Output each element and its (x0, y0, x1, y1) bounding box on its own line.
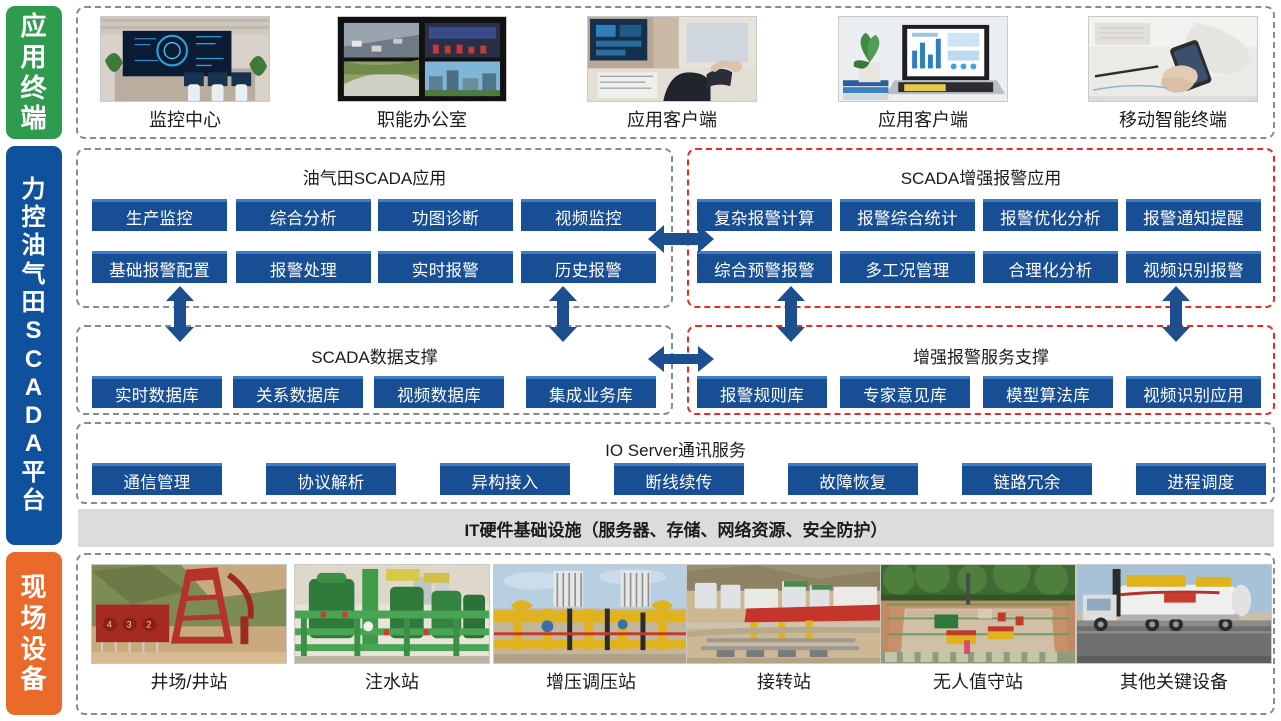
enhanced-alarm-application-title: SCADA增强报警应用 (689, 164, 1273, 189)
io-server-chip-4[interactable]: 故障恢复 (788, 463, 918, 495)
alarm-app-chip-2[interactable]: 报警优化分析 (983, 199, 1118, 231)
field-thumbnail-unmanned-station (880, 564, 1076, 664)
rail-char: 应 (20, 11, 47, 42)
field-caption: 接转站 (757, 668, 811, 694)
data-link-arrow (648, 343, 714, 375)
alarm-support-chip-0[interactable]: 报警规则库 (697, 376, 827, 408)
scada-application-title: 油气田SCADA应用 (78, 164, 671, 189)
rail-char: 台 (22, 487, 47, 515)
terminal-caption: 应用客户端 (878, 106, 968, 132)
terminal-cell-1[interactable]: 职能办公室 (337, 16, 507, 132)
rail-char: 控 (22, 204, 47, 232)
rail-char: A (25, 374, 43, 402)
rail-char: A (25, 430, 43, 458)
svg-text:4: 4 (107, 619, 112, 629)
terminal-cell-4[interactable]: 移动智能终端 (1088, 16, 1258, 132)
rail-char: 油 (22, 232, 47, 260)
rail-char: D (25, 402, 43, 430)
field-caption: 增压调压站 (546, 668, 636, 694)
io-server-title: IO Server通讯服务 (78, 436, 1273, 461)
alarm-app-chip-1[interactable]: 报警综合统计 (840, 199, 975, 231)
svg-text:2: 2 (146, 619, 151, 629)
data-support-chip-3[interactable]: 集成业务库 (526, 376, 656, 408)
rail-char: 田 (22, 289, 47, 317)
io-server-chip-1[interactable]: 协议解析 (266, 463, 396, 495)
data-support-chip-2[interactable]: 视频数据库 (374, 376, 504, 408)
alarm-support-chip-2[interactable]: 模型算法库 (983, 376, 1113, 408)
rail-char: 力 (22, 176, 47, 204)
terminal-cell-0[interactable]: 监控中心 (100, 16, 270, 132)
field-cell-3[interactable]: 接转站 (686, 564, 882, 694)
rail-char: 平 (22, 459, 47, 487)
data-support-chip-0[interactable]: 实时数据库 (92, 376, 222, 408)
scada-app-chip-7[interactable]: 历史报警 (521, 251, 656, 283)
alarm-app-chip-0[interactable]: 复杂报警计算 (697, 199, 832, 231)
alarm-app-chip-7[interactable]: 视频识别报警 (1126, 251, 1261, 283)
app-link-arrow (648, 222, 714, 256)
field-thumbnail-green-tanks (294, 564, 490, 664)
field-thumbnail-pumpjack: 432 (91, 564, 287, 664)
field-cell-4[interactable]: 无人值守站 (880, 564, 1076, 694)
scada-app-chip-0[interactable]: 生产监控 (92, 199, 227, 231)
field-cell-0[interactable]: 432 井场/井站 (91, 564, 287, 694)
rail-char: 气 (22, 261, 47, 289)
io-server-chip-0[interactable]: 通信管理 (92, 463, 222, 495)
rail-char: 端 (20, 103, 47, 134)
scada-app-chip-6[interactable]: 实时报警 (378, 251, 513, 283)
scada-app-chip-4[interactable]: 基础报警配置 (92, 251, 227, 283)
scada-app-chip-5[interactable]: 报警处理 (236, 251, 371, 283)
io-server-chip-2[interactable]: 异构接入 (440, 463, 570, 495)
rail-char: 设 (20, 634, 47, 665)
alarm-app-chip-6[interactable]: 合理化分析 (983, 251, 1118, 283)
io-server-chip-6[interactable]: 进程调度 (1136, 463, 1266, 495)
enhanced-alarm-support-title: 增强报警服务支撑 (689, 343, 1273, 368)
layer-link-arrow-right-2 (1159, 286, 1193, 342)
rail-char: 场 (20, 603, 47, 634)
layer-link-arrow-left-1 (163, 286, 197, 342)
rail-char: C (25, 346, 43, 374)
terminal-thumbnail-control-room (100, 16, 270, 102)
rail-char: 现 (20, 572, 47, 603)
rail-application-terminal: 应 用 终 端 (6, 6, 62, 139)
it-infrastructure-bar: IT硬件基础设施（服务器、存储、网络资源、安全防护） (78, 509, 1274, 547)
terminal-thumbnail-mobile-hand (1088, 16, 1258, 102)
scada-data-support-title: SCADA数据支撑 (78, 343, 671, 368)
alarm-support-chip-3[interactable]: 视频识别应用 (1126, 376, 1261, 408)
terminal-thumbnail-video-wall (337, 16, 507, 102)
terminal-caption: 移动智能终端 (1119, 106, 1227, 132)
field-cell-2[interactable]: 增压调压站 (493, 564, 689, 694)
terminal-cell-3[interactable]: 应用客户端 (838, 16, 1008, 132)
field-cell-5[interactable]: 其他关键设备 (1076, 564, 1272, 694)
rail-scada-platform: 力 控 油 气 田 S C A D A 平 台 (6, 146, 62, 545)
alarm-app-chip-5[interactable]: 多工况管理 (840, 251, 975, 283)
layer-link-arrow-right-1 (774, 286, 808, 342)
terminal-cell-2[interactable]: 应用客户端 (587, 16, 757, 132)
scada-app-chip-2[interactable]: 功图诊断 (378, 199, 513, 231)
svg-text:3: 3 (127, 619, 132, 629)
layer-link-arrow-left-2 (546, 286, 580, 342)
field-cell-1[interactable]: 注水站 (294, 564, 490, 694)
field-caption: 注水站 (365, 668, 419, 694)
rail-field-device: 现 场 设 备 (6, 552, 62, 715)
io-server-chip-3[interactable]: 断线续传 (614, 463, 744, 495)
data-support-chip-1[interactable]: 关系数据库 (233, 376, 363, 408)
field-thumbnail-tanker-truck (1076, 564, 1272, 664)
rail-char: 用 (20, 42, 47, 73)
scada-app-chip-3[interactable]: 视频监控 (521, 199, 656, 231)
terminal-caption: 应用客户端 (627, 106, 717, 132)
alarm-app-chip-4[interactable]: 综合预警报警 (697, 251, 832, 283)
field-thumbnail-tank-farm (686, 564, 882, 664)
alarm-app-chip-3[interactable]: 报警通知提醒 (1126, 199, 1261, 231)
io-server-chip-5[interactable]: 链路冗余 (962, 463, 1092, 495)
rail-char: 终 (20, 73, 47, 104)
terminal-thumbnail-desk-monitor (587, 16, 757, 102)
field-thumbnail-yellow-pipes (493, 564, 689, 664)
terminal-thumbnail-laptop-dashboard (838, 16, 1008, 102)
field-caption: 无人值守站 (933, 668, 1023, 694)
rail-char: S (25, 317, 42, 345)
alarm-support-chip-1[interactable]: 专家意见库 (840, 376, 970, 408)
terminal-caption: 职能办公室 (377, 106, 467, 132)
scada-app-chip-1[interactable]: 综合分析 (236, 199, 371, 231)
terminal-caption: 监控中心 (149, 106, 221, 132)
field-caption: 其他关键设备 (1120, 668, 1228, 694)
field-caption: 井场/井站 (150, 668, 227, 694)
rail-char: 备 (20, 664, 47, 695)
